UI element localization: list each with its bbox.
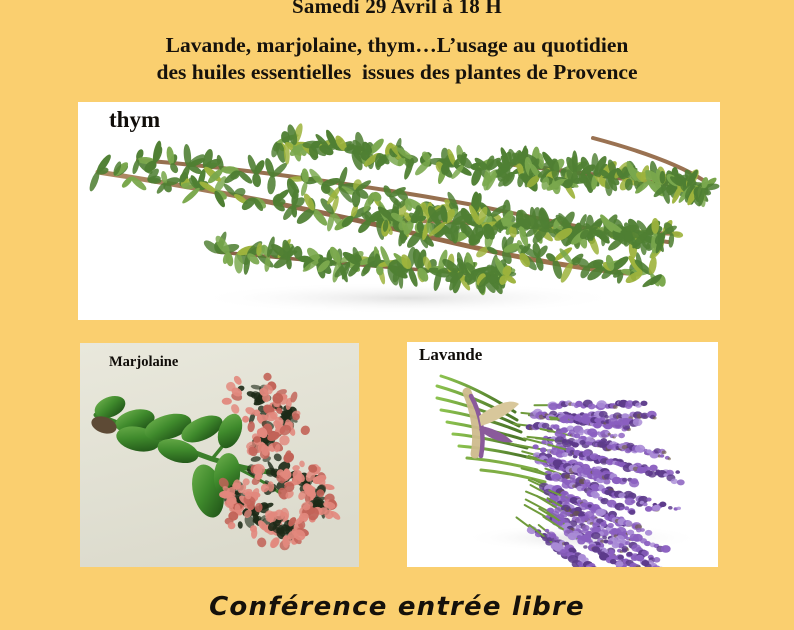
image-label-lavande: Lavande (419, 345, 482, 365)
image-label-thym: thym (109, 107, 160, 133)
poster-subtitle-line-2: des huiles essentielles issues des plant… (0, 59, 794, 86)
poster-date-line: Samedi 29 Avril à 18 H (0, 0, 794, 19)
image-panel-marjolaine: Marjolaine (80, 343, 359, 567)
image-label-marjolaine: Marjolaine (109, 354, 178, 371)
poster-footer-text: Conférence entrée libre (0, 592, 794, 622)
poster-root: Samedi 29 Avril à 18 H Lavande, marjolai… (0, 0, 794, 630)
image-panel-thym: thym (78, 102, 720, 320)
image-panel-lavande: Lavande (407, 342, 718, 567)
poster-subtitle-line-1: Lavande, marjolaine, thym…L’usage au quo… (166, 33, 629, 57)
marjoram-botanical-illustration (80, 343, 359, 567)
thyme-sprigs-illustration (78, 102, 720, 320)
lavender-bouquet-illustration (407, 342, 718, 567)
poster-subtitle: Lavande, marjolaine, thym…L’usage au quo… (0, 32, 794, 86)
